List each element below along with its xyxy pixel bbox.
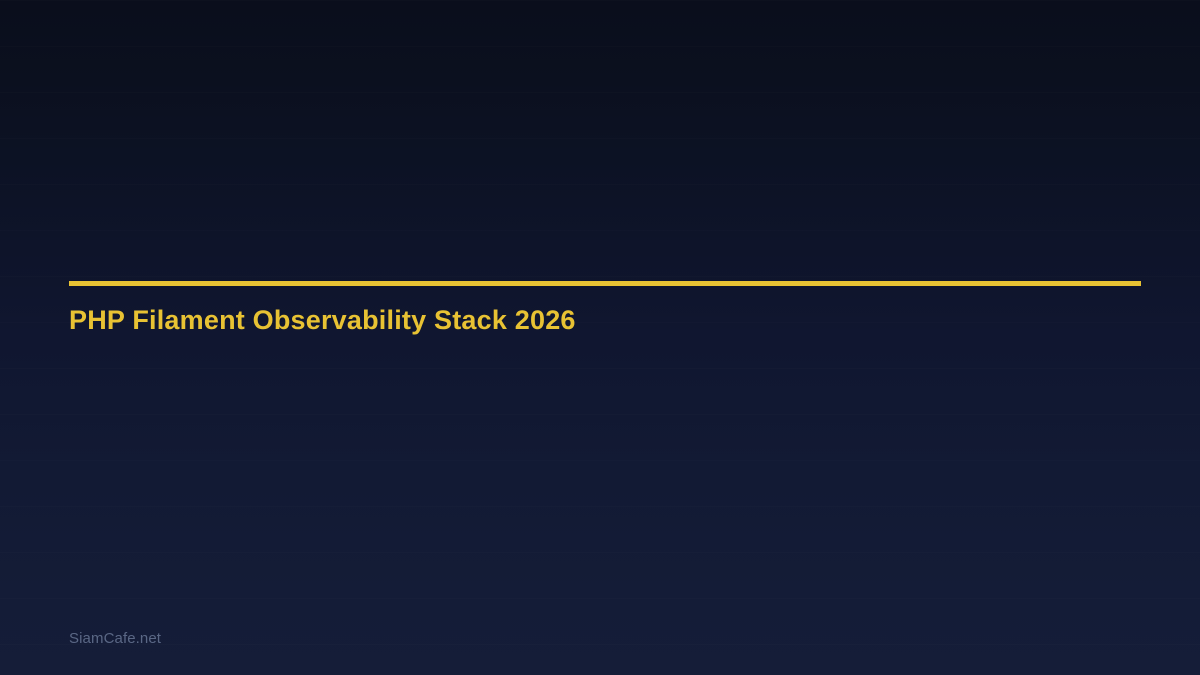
title-slide: PHP Filament Observability Stack 2026 Si… [0,0,1200,675]
title-block: PHP Filament Observability Stack 2026 [69,281,1141,336]
page-title: PHP Filament Observability Stack 2026 [69,286,1141,336]
footer-brand-label: SiamCafe.net [69,630,161,648]
